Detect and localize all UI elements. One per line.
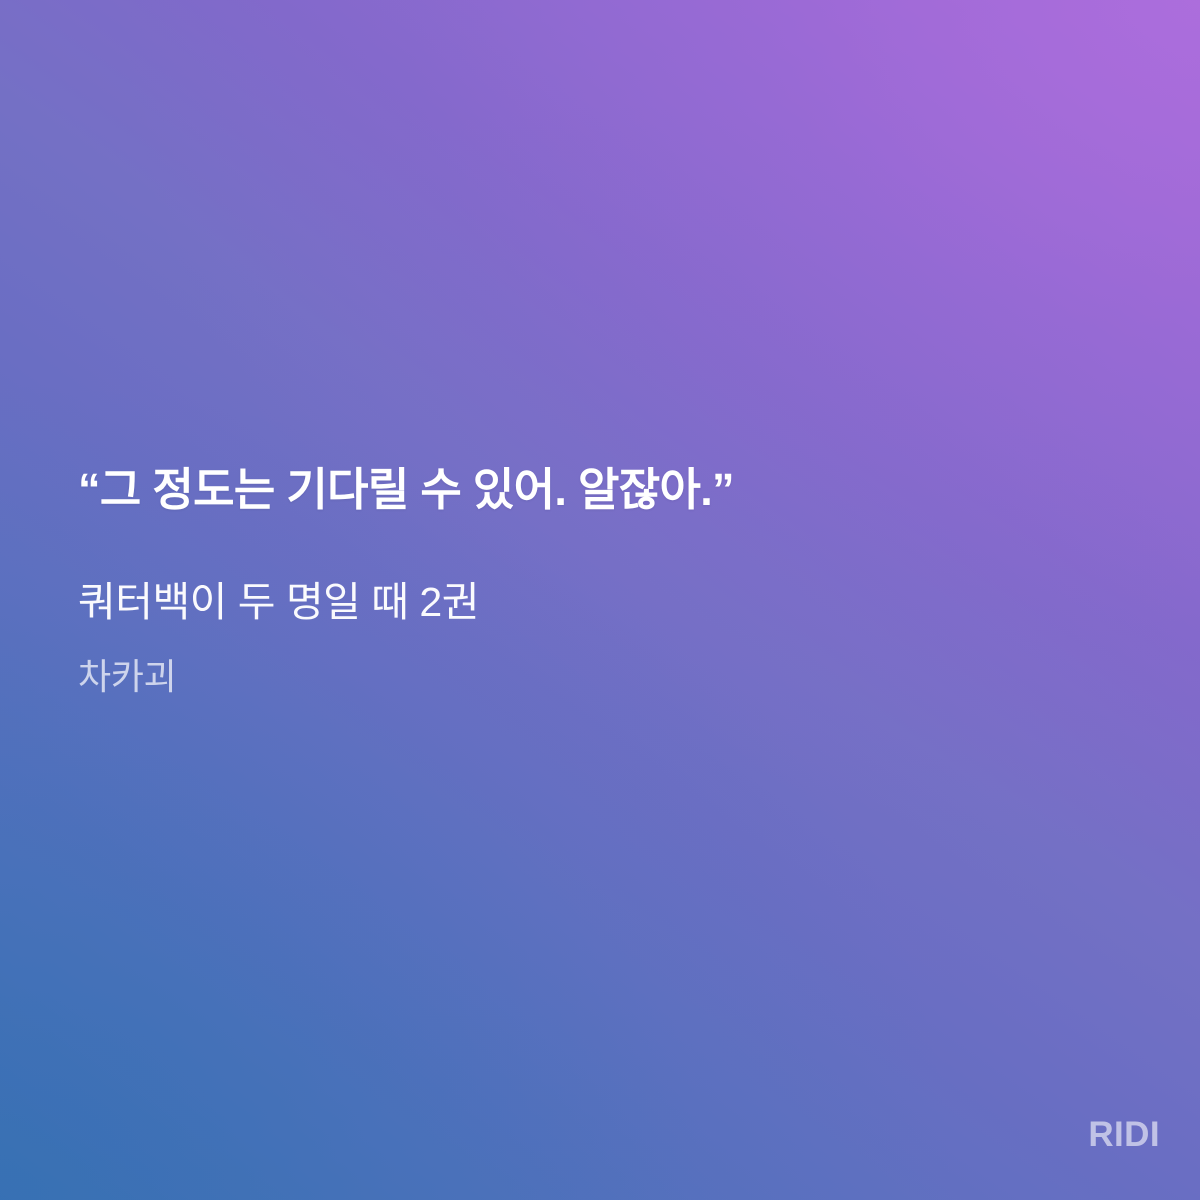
quote-text: “그 정도는 기다릴 수 있어. 알잖아.”: [78, 462, 1098, 519]
quote-card: “그 정도는 기다릴 수 있어. 알잖아.” 쿼터백이 두 명일 때 2권 차카…: [0, 0, 1200, 1200]
quote-text-block: “그 정도는 기다릴 수 있어. 알잖아.” 쿼터백이 두 명일 때 2권 차카…: [78, 462, 1098, 698]
ridi-logo: RIDI: [1088, 1117, 1160, 1152]
book-title: 쿼터백이 두 명일 때 2권: [78, 519, 1098, 627]
book-author: 차카괴: [78, 627, 1098, 698]
